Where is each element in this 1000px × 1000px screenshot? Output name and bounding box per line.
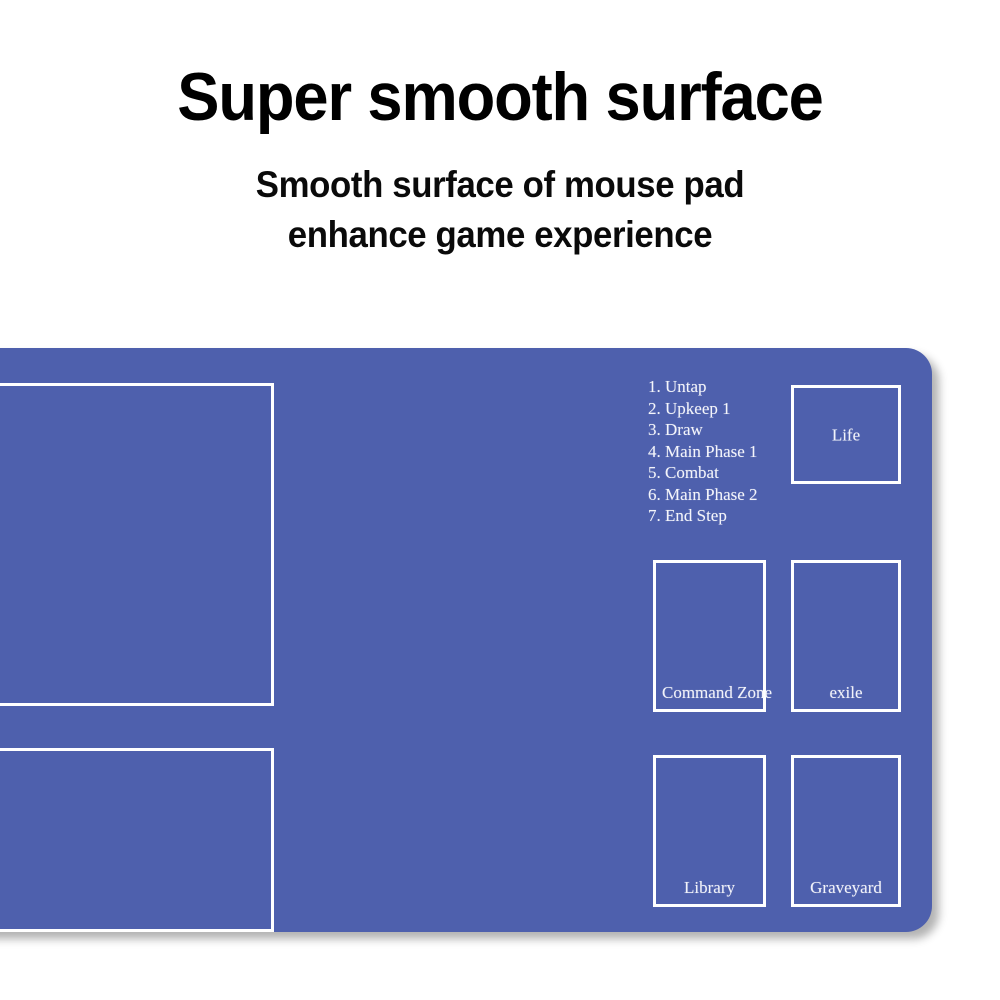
zone-library: Library [653, 755, 766, 907]
promo-header: Super smooth surface Smooth surface of m… [0, 0, 1000, 330]
phase-item-5: 5. Combat [648, 462, 758, 484]
zone-graveyard-label: Graveyard [794, 878, 898, 897]
phase-item-4: 4. Main Phase 1 [648, 441, 758, 463]
phase-item-1: 1. Untap [648, 376, 758, 398]
page-subtitle-line-1: Smooth surface of mouse pad [30, 160, 970, 210]
zone-command-zone: Command Zone [653, 560, 766, 712]
page-subtitle: Smooth surface of mouse pad enhance game… [30, 160, 970, 260]
page-title: Super smooth surface [35, 58, 965, 136]
phase-item-2: 2. Upkeep 1 [648, 398, 758, 420]
zone-battlefield: Battlefield [0, 383, 274, 706]
phase-item-6: 6. Main Phase 2 [648, 484, 758, 506]
page-subtitle-line-2: enhance game experience [30, 210, 970, 260]
zone-command-zone-label: Command Zone [662, 683, 772, 702]
zone-life: Life [791, 385, 901, 484]
zone-lands: Lands [0, 748, 274, 932]
turn-phase-list: 1. Untap 2. Upkeep 1 3. Draw 4. Main Pha… [648, 376, 758, 527]
zone-library-label: Library [656, 878, 763, 897]
zone-graveyard: Graveyard [791, 755, 901, 907]
zone-exile-label: exile [794, 683, 898, 702]
zone-exile: exile [791, 560, 901, 712]
zone-life-label: Life [794, 425, 898, 444]
phase-item-7: 7. End Step [648, 505, 758, 527]
playmat-image: Battlefield Lands 1. Untap 2. Upkeep 1 3… [0, 348, 932, 932]
phase-item-3: 3. Draw [648, 419, 758, 441]
